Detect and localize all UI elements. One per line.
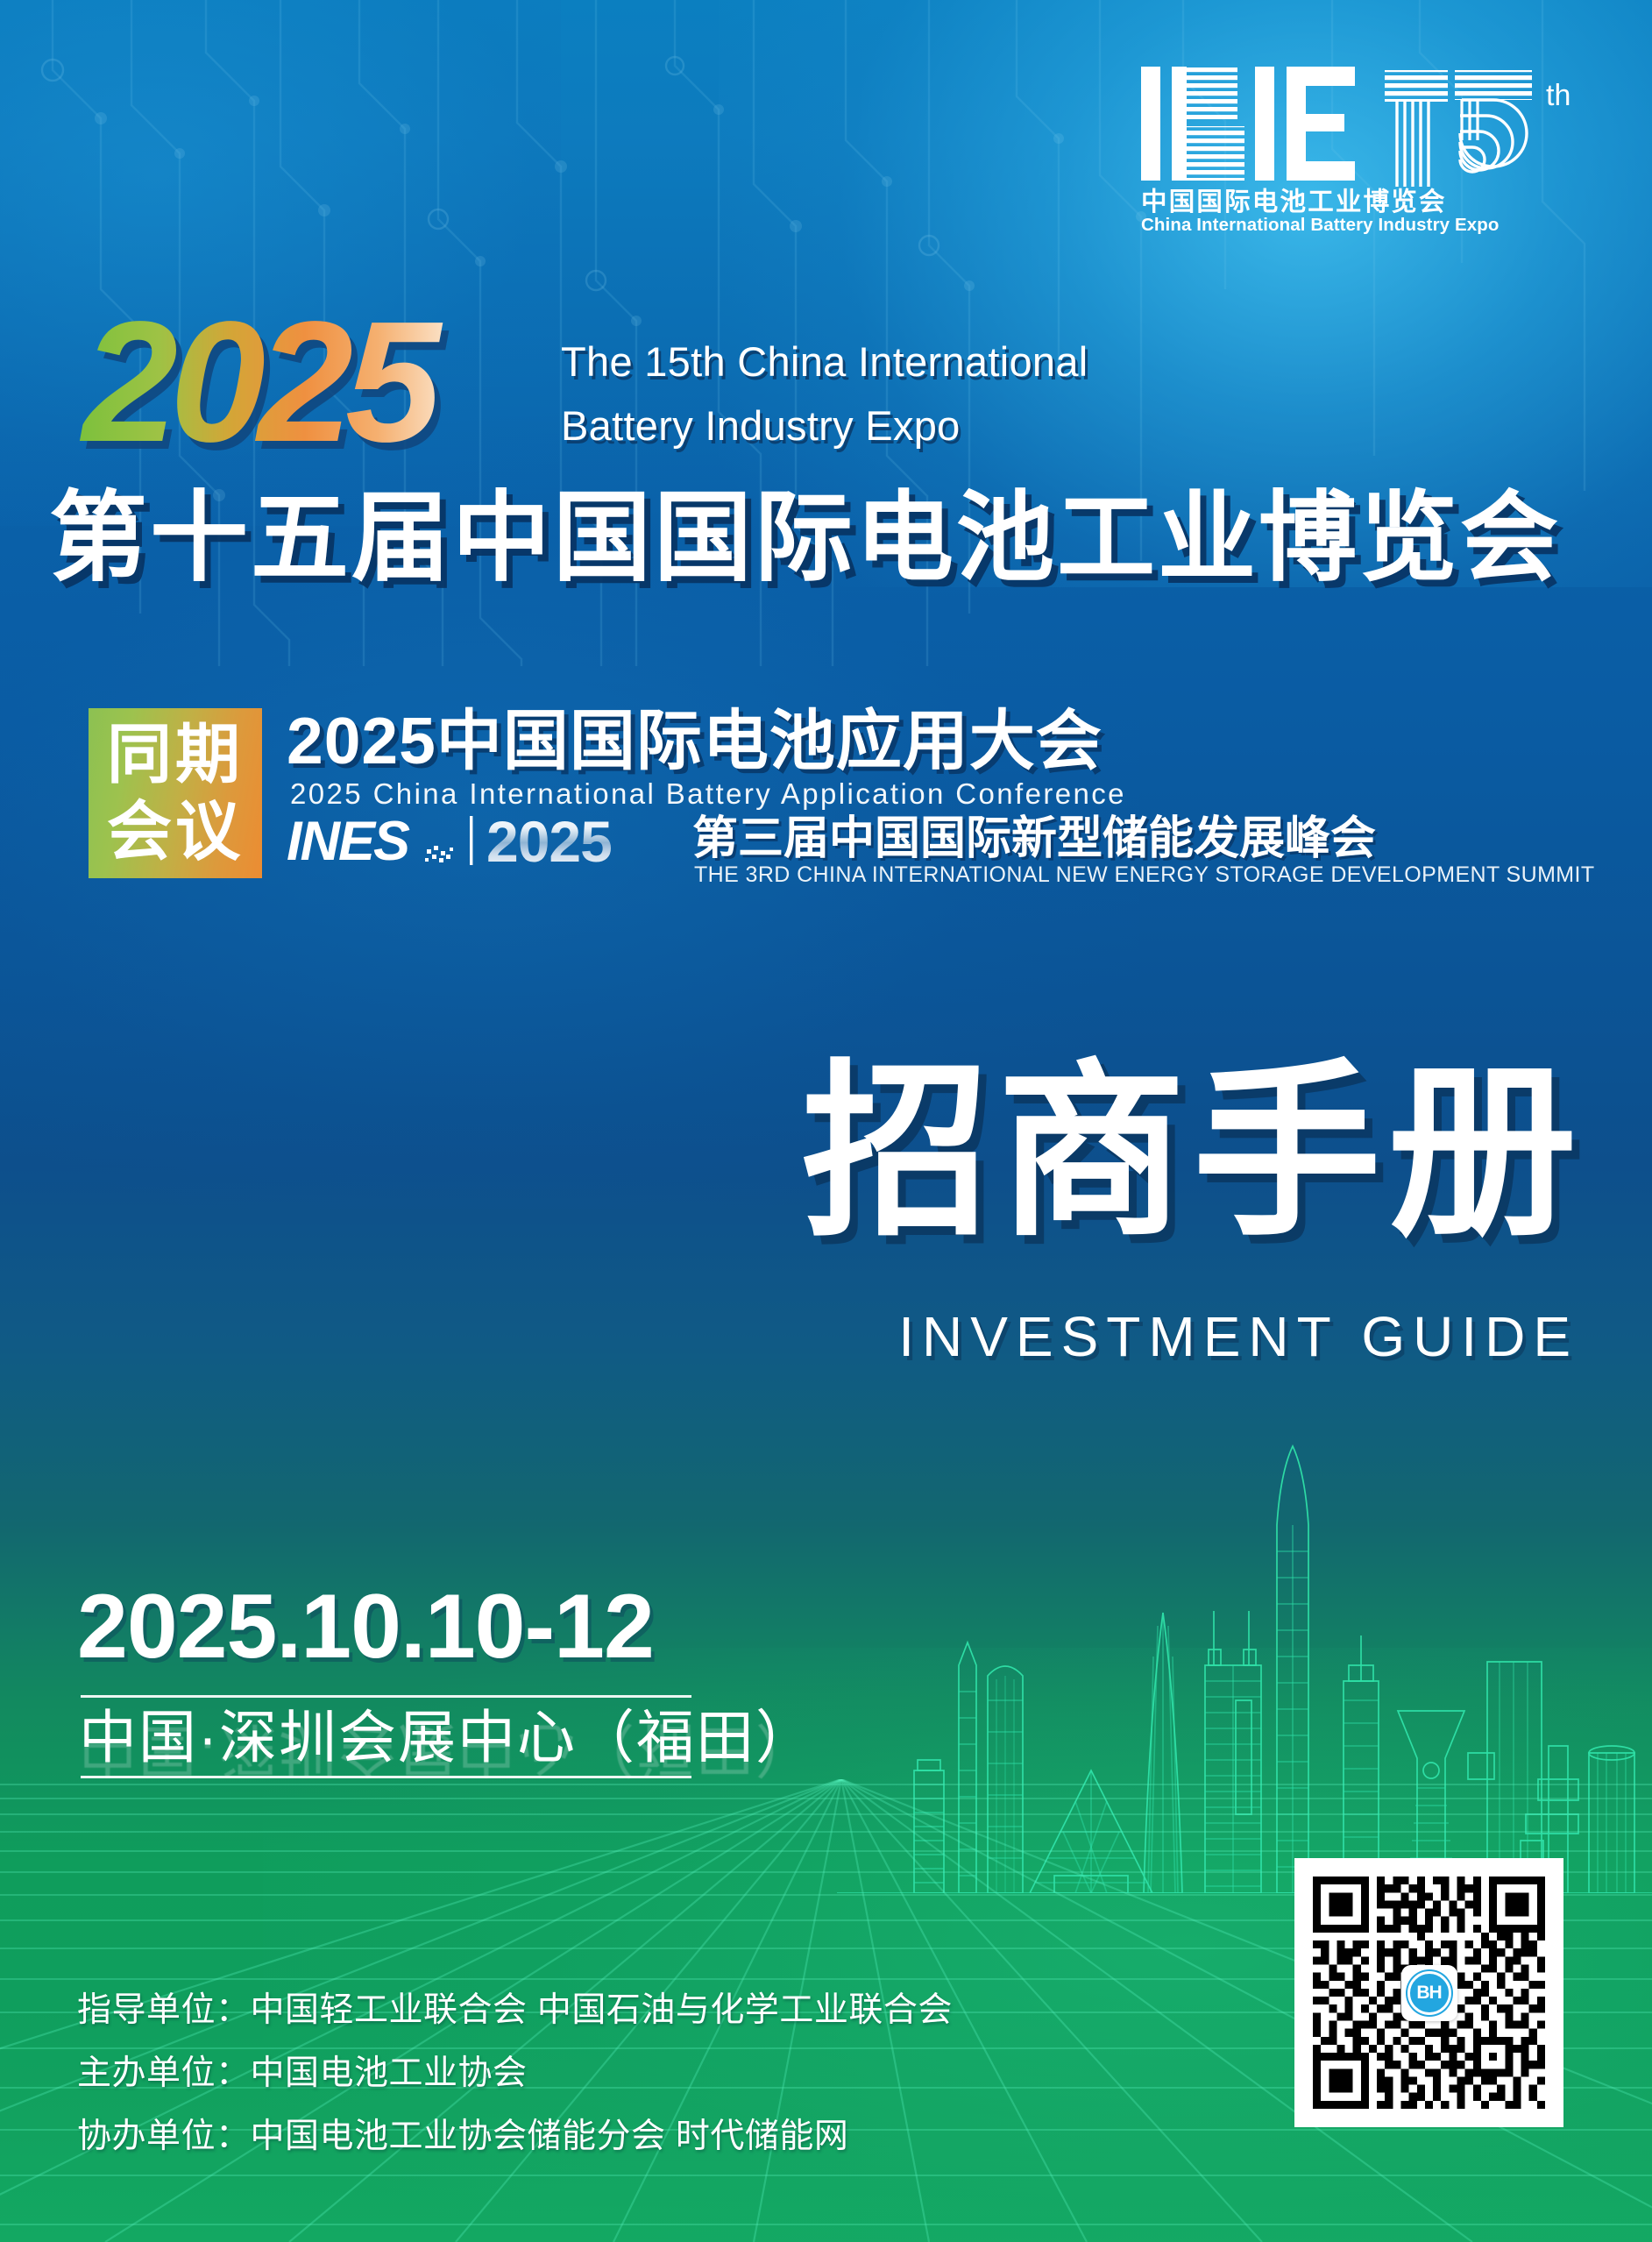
ibie-edition-suffix: th <box>1546 79 1570 112</box>
badge-line-2: 会议 <box>107 793 244 870</box>
conference-1-title-cn: 2025中国国际电池应用大会 <box>287 705 1103 777</box>
qr-code-card[interactable]: BH <box>1294 1858 1563 2127</box>
ines-pixel-dots <box>425 846 453 862</box>
year-2025-text: 2025 <box>79 311 443 478</box>
event-date: 2025.10.10-12 <box>77 1578 654 1676</box>
ibie-logo: th 中国国际电池工业博览会 China International Batte… <box>1132 60 1623 235</box>
ibie-letter-i2 <box>1255 67 1274 181</box>
conference-2-title-en: THE 3RD CHINA INTERNATIONAL NEW ENERGY S… <box>694 862 1595 888</box>
venue-rule-top <box>81 1695 691 1698</box>
conference-1-title-en: 2025 China International Battery Applica… <box>290 777 1126 812</box>
organizer-line-host: 主办单位：中国电池工业协会 <box>77 2042 1059 2105</box>
ibie-letter-i <box>1141 67 1160 181</box>
ines-logo: INES 2025 <box>287 811 698 872</box>
organizer-line-guidance: 指导单位：中国轻工业联合会 中国石油与化学工业联合会 <box>77 1979 1059 2042</box>
hero-title-chinese: 招商手册 <box>802 1052 1584 1253</box>
ines-year: 2025 <box>486 811 612 872</box>
ibie-edition-number <box>1385 70 1532 187</box>
year-2025-artwork: 2025 2025 <box>75 311 531 478</box>
organizer-list: 指导单位：中国轻工业联合会 中国石油与化学工业联合会 主办单位：中国电池工业协会… <box>77 1979 1059 2168</box>
ibie-logo-en: China International Battery Industry Exp… <box>1141 215 1499 235</box>
qr-center-logo-text: BH <box>1407 1971 1451 2015</box>
expo-title-chinese: 第十五届中国国际电池工业博览会 <box>49 486 1618 590</box>
shenzhen-skyline-illustration <box>837 1402 1652 1893</box>
poster-canvas: th 中国国际电池工业博览会 China International Batte… <box>0 0 1652 2242</box>
ibie-logo-cn: 中国国际电池工业博览会 <box>1141 188 1447 216</box>
concurrent-conference-badge: 同期 会议 <box>89 708 262 878</box>
conference-2-title-cn: 第三届中国国际新型储能发展峰会 <box>692 813 1376 864</box>
ines-wordmark: INES <box>287 811 410 872</box>
expo-subtitle-english: The 15th China International Battery Ind… <box>561 330 1350 458</box>
organizer-line-coorganizer: 协办单位：中国电池工业协会储能分会 时代储能网 <box>77 2105 1059 2168</box>
ibie-letter-b <box>1172 67 1244 181</box>
expo-subtitle-line1: The 15th China International <box>561 330 1350 394</box>
expo-subtitle-line2: Battery Industry Expo <box>561 394 1350 458</box>
ines-divider <box>470 816 472 865</box>
hero-title-english: INVESTMENT GUIDE <box>898 1305 1578 1368</box>
badge-line-1: 同期 <box>107 716 244 793</box>
venue-rule-bottom <box>81 1776 691 1778</box>
ibie-letter-e <box>1287 67 1355 181</box>
event-venue: 中国·深圳会展中心（福田） <box>79 1702 815 1772</box>
qr-center-logo: BH <box>1401 1965 1457 2021</box>
